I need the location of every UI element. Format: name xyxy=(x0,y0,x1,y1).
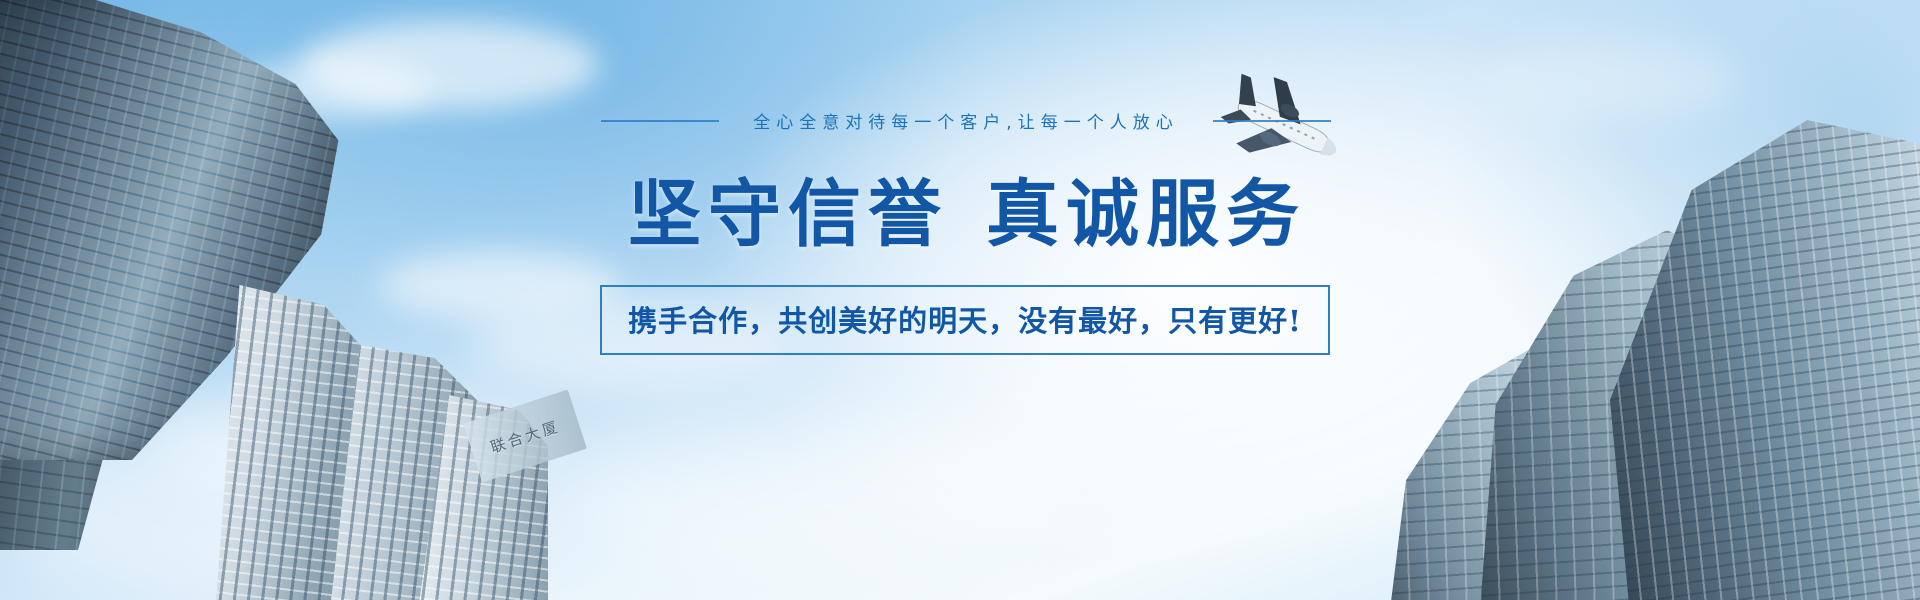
tagline-row: 全心全意对待每一个客户,让每一个人放心 xyxy=(601,108,1330,133)
decorative-rule-left-icon xyxy=(601,120,719,122)
banner-tagline: 全心全意对待每一个客户,让每一个人放心 xyxy=(753,108,1178,133)
banner-headline: 坚守信誉真诚服务 xyxy=(628,155,1306,261)
banner-subtitle: 携手合作，共创美好的明天，没有最好，只有更好! xyxy=(600,285,1330,355)
headline-segment-2: 真诚服务 xyxy=(986,172,1306,257)
decorative-rule-right-icon xyxy=(1213,120,1331,122)
hero-banner: 联合大厦 xyxy=(0,0,1920,600)
headline-segment-1: 坚守信誉 xyxy=(628,172,948,257)
cloud-shape xyxy=(1480,40,1740,120)
cloud-shape xyxy=(560,420,1060,570)
